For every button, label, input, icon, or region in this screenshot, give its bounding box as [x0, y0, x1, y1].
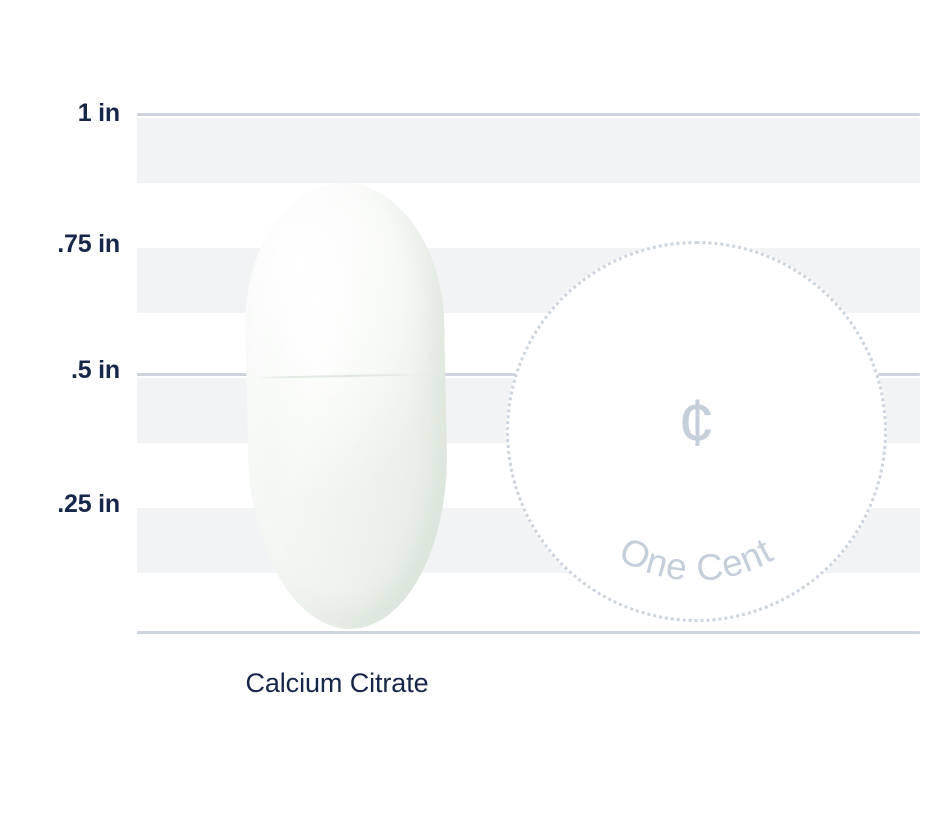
axis-baseline — [137, 631, 920, 634]
calcium-citrate-pill-shape — [242, 181, 450, 631]
coin-arc-label: One Cent — [613, 529, 779, 589]
pill-scoreline — [254, 373, 437, 379]
y-axis-tick-05in: .5 in — [0, 358, 120, 383]
gridline-1in — [137, 113, 920, 116]
shaded-band-1 — [137, 118, 920, 183]
pill-name-caption: Calcium Citrate — [137, 668, 537, 699]
pill-highlight — [271, 209, 363, 416]
coin-arc-text: One Cent — [506, 241, 887, 622]
y-axis: 1 in .75 in .5 in .25 in — [0, 0, 120, 820]
y-axis-tick-025in: .25 in — [0, 492, 120, 517]
y-axis-tick-075in: .75 in — [0, 232, 120, 257]
y-axis-tick-1in: 1 in — [0, 101, 120, 126]
pill-size-comparison-figure: 1 in .75 in .5 in .25 in ¢ One Cent Cal — [0, 0, 950, 820]
one-cent-coin-reference: ¢ One Cent — [506, 241, 887, 622]
